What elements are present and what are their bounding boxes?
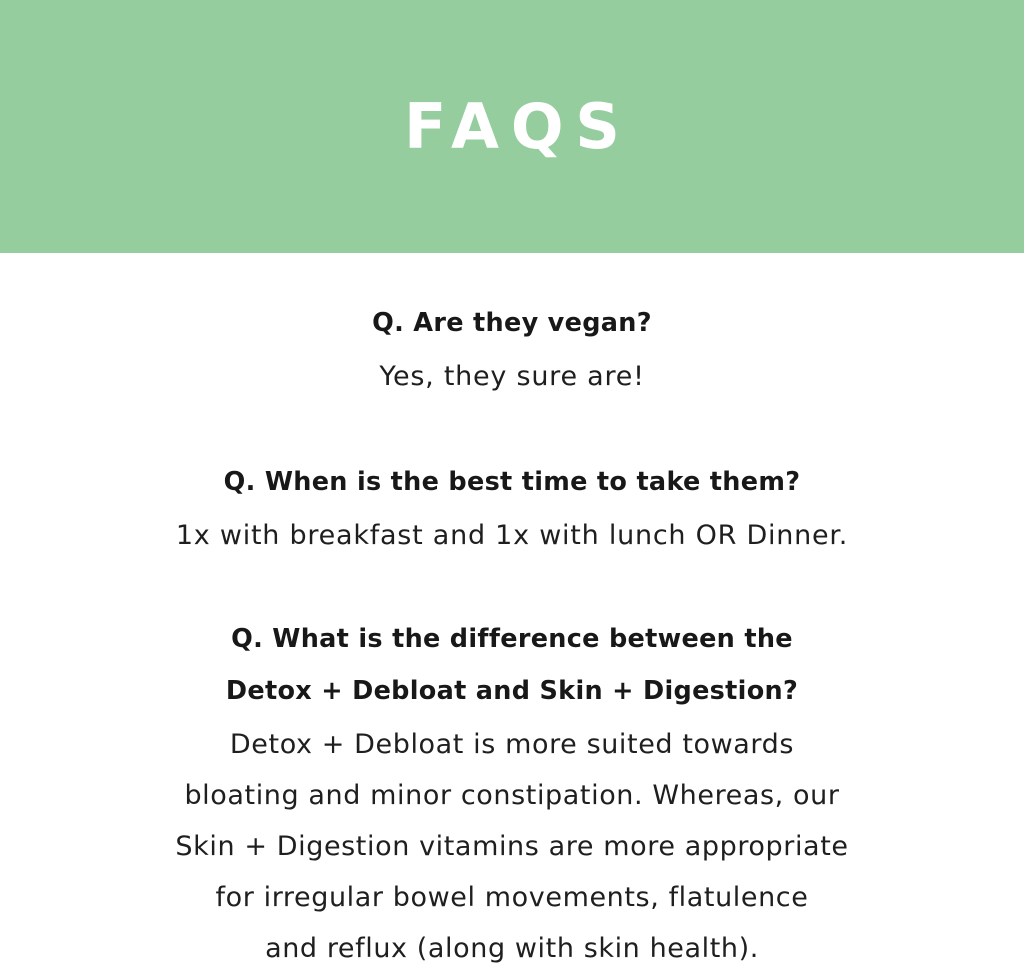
faq-answer-line: bloating and minor constipation. Whereas… (48, 770, 976, 821)
page-title: FAQS (392, 96, 631, 158)
faq-content: Q. Are they vegan? Yes, they sure are! Q… (0, 253, 1024, 974)
faq-answer-line: Skin + Digestion vitamins are more appro… (48, 821, 976, 872)
header-band: FAQS (0, 0, 1024, 253)
faq-question-line: Q. What is the difference between the (48, 613, 976, 665)
faq-question-line: Detox + Debloat and Skin + Digestion? (48, 665, 976, 717)
faq-answer-line: Detox + Debloat is more suited towards (48, 719, 976, 770)
faq-answer-line: and reflux (along with skin health). (48, 923, 976, 974)
faq-item: Q. Are they vegan? Yes, they sure are! (48, 297, 976, 402)
faq-question: Q. When is the best time to take them? (48, 456, 976, 508)
faq-item: Q. What is the difference between the De… (48, 613, 976, 974)
faq-answer: 1x with breakfast and 1x with lunch OR D… (48, 510, 976, 561)
faq-page: FAQS Q. Are they vegan? Yes, they sure a… (0, 0, 1024, 956)
faq-question: Q. What is the difference between the De… (48, 613, 976, 717)
faq-answer: Detox + Debloat is more suited towards b… (48, 719, 976, 974)
faq-question: Q. Are they vegan? (48, 297, 976, 349)
faq-answer: Yes, they sure are! (48, 351, 976, 402)
faq-item: Q. When is the best time to take them? 1… (48, 456, 976, 561)
faq-answer-line: for irregular bowel movements, flatulenc… (48, 872, 976, 923)
